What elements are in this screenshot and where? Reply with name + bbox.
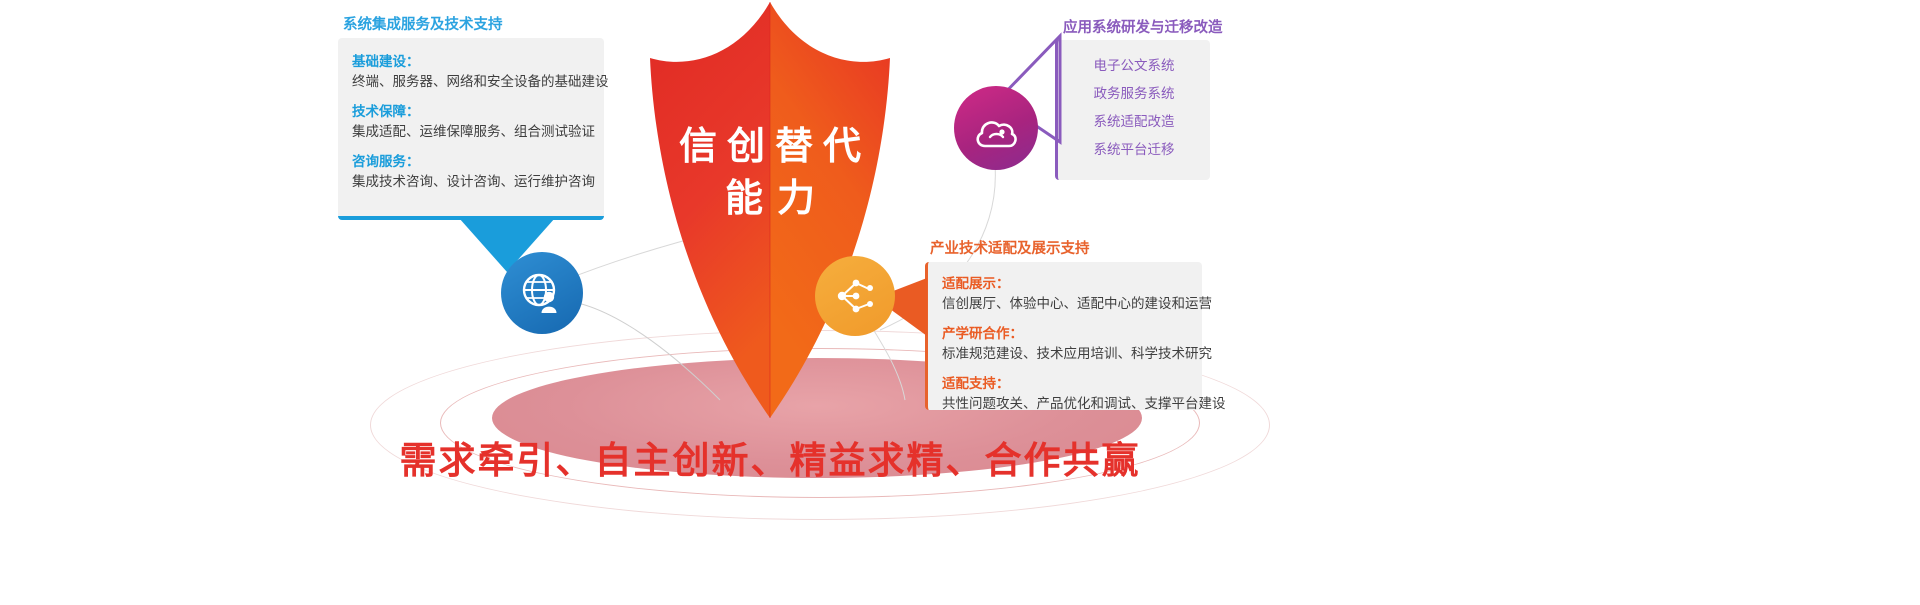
group-heading: 适配展示： [942,274,1202,294]
panel-group: 适配展示： 信创展厅、体验中心、适配中心的建设和运营 [942,274,1202,315]
cloud-upload-icon [972,106,1020,150]
shield-graphic [620,0,920,430]
group-body: 共性问题攻关、产品优化和调试、支撑平台建设 [942,394,1202,415]
panel-title-system-integration: 系统集成服务及技术支持 [343,13,503,34]
network-node-badge [815,256,895,336]
group-body: 信创展厅、体验中心、适配中心的建设和运营 [942,294,1202,315]
panel-industry-adaptation: 适配展示： 信创展厅、体验中心、适配中心的建设和运营 产学研合作： 标准规范建设… [925,262,1202,410]
globe-user-badge [501,252,583,334]
panel-group: 基础建设： 终端、服务器、网络和安全设备的基础建设 [352,52,604,93]
list-item: 系统平台迁移 [1058,136,1210,164]
list-item: 电子公文系统 [1058,52,1210,80]
group-body: 标准规范建设、技术应用培训、科学技术研究 [942,344,1202,365]
group-body: 终端、服务器、网络和安全设备的基础建设 [352,72,604,93]
slogan-text: 需求牵引、自主创新、精益求精、合作共赢 [0,430,1540,484]
panel-title-app-development: 应用系统研发与迁移改造 [1063,16,1223,37]
panel-app-development: 电子公文系统 政务服务系统 系统适配改造 系统平台迁移 [1055,40,1210,180]
group-heading: 产学研合作： [942,324,1202,344]
list-item: 系统适配改造 [1058,108,1210,136]
group-heading: 技术保障： [352,102,604,122]
globe-user-icon [519,270,565,316]
panel-group: 适配支持： 共性问题攻关、产品优化和调试、支撑平台建设 [942,374,1202,415]
panel-title-industry-adaptation: 产业技术适配及展示支持 [930,237,1090,258]
infographic-canvas: 信创替代 能力 系统集成服务及技术支持 基础建设： 终端、服务器、网络和安全设备… [0,0,1920,605]
group-heading: 咨询服务： [352,152,604,172]
group-heading: 适配支持： [942,374,1202,394]
group-body: 集成技术咨询、设计咨询、运行维护咨询 [352,172,604,193]
network-node-icon [832,273,878,319]
panel-group: 咨询服务： 集成技术咨询、设计咨询、运行维护咨询 [352,152,604,193]
panel-group: 产学研合作： 标准规范建设、技术应用培训、科学技术研究 [942,324,1202,365]
group-heading: 基础建设： [352,52,604,72]
panel-system-integration: 基础建设： 终端、服务器、网络和安全设备的基础建设 技术保障： 集成适配、运维保… [338,38,604,220]
panel-group: 技术保障： 集成适配、运维保障服务、组合测试验证 [352,102,604,143]
cloud-upload-badge [954,86,1038,170]
list-item: 政务服务系统 [1058,80,1210,108]
group-body: 集成适配、运维保障服务、组合测试验证 [352,122,604,143]
